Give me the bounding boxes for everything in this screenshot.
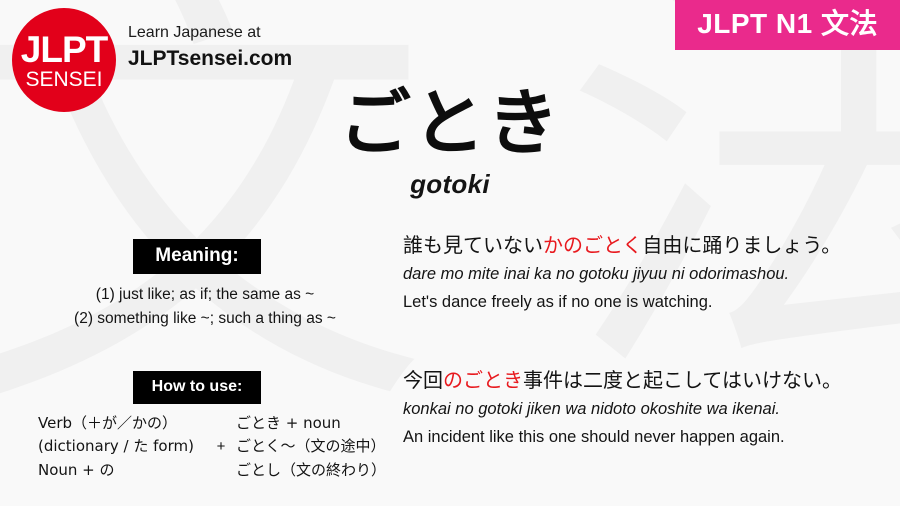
meaning-heading: Meaning: <box>133 239 261 274</box>
how-to-use-plus <box>206 412 236 435</box>
how-to-use-right: ごとき + noun <box>236 412 386 435</box>
grammar-point-romaji: gotoki <box>0 169 900 200</box>
table-row: Verb（＋が／かの） ごとき + noun <box>38 412 386 435</box>
example-japanese: 誰も見ていないかのごとく自由に踊りましょう。 <box>403 232 883 259</box>
grammar-title-block: ごとき gotoki <box>0 82 900 200</box>
jlpt-level-badge: JLPT N1 文法 <box>675 0 900 50</box>
header-text-block: Learn Japanese at JLPTsensei.com <box>128 22 428 73</box>
how-to-use-right: ごとく～（文の途中） <box>236 435 386 458</box>
meaning-list: (1) just like; as if; the same as ~ (2) … <box>30 283 380 331</box>
example-jp-highlight: かのごとく <box>543 233 642 257</box>
how-to-use-right: ごとし（文の終わり） <box>236 459 386 482</box>
example-jp-post: 事件は二度と起こしてはいけない。 <box>523 368 842 392</box>
how-to-use-left: (dictionary / た form) <box>38 435 206 458</box>
example-english: Let's dance freely as if no one is watch… <box>403 290 883 315</box>
example-romaji: dare mo mite inai ka no gotoku jiyuu ni … <box>403 262 883 287</box>
how-to-use-plus: + <box>206 435 236 458</box>
site-name-text[interactable]: JLPTsensei.com <box>128 45 428 73</box>
how-to-use-table: Verb（＋が／かの） ごとき + noun (dictionary / た f… <box>38 412 386 482</box>
example-sentence-2: 今回のごとき事件は二度と起こしてはいけない。 konkai no gotoki … <box>403 367 883 450</box>
example-jp-pre: 誰も見ていない <box>403 233 543 257</box>
meaning-item: (1) just like; as if; the same as ~ <box>30 283 380 307</box>
table-row: Noun + の ごとし（文の終わり） <box>38 459 386 482</box>
table-row: (dictionary / た form) + ごとく～（文の途中） <box>38 435 386 458</box>
grammar-point-kana: ごとき <box>0 82 900 165</box>
example-romaji: konkai no gotoki jiken wa nidoto okoshit… <box>403 397 883 422</box>
example-sentence-1: 誰も見ていないかのごとく自由に踊りましょう。 dare mo mite inai… <box>403 232 883 315</box>
how-to-use-left: Verb（＋が／かの） <box>38 412 206 435</box>
example-english: An incident like this one should never h… <box>403 425 883 450</box>
meaning-item: (2) something like ~; such a thing as ~ <box>30 307 380 331</box>
example-jp-pre: 今回 <box>403 368 443 392</box>
grammar-flashcard: 文 法 JLPT SENSEI Learn Japanese at JLPTse… <box>0 0 900 506</box>
how-to-use-heading: How to use: <box>133 371 261 404</box>
example-japanese: 今回のごとき事件は二度と起こしてはいけない。 <box>403 367 883 394</box>
how-to-use-left: Noun + の <box>38 459 206 482</box>
example-jp-highlight: のごとき <box>443 368 523 392</box>
tagline-text: Learn Japanese at <box>128 22 428 44</box>
how-to-use-plus <box>206 459 236 482</box>
example-jp-post: 自由に踊りましょう。 <box>642 233 841 257</box>
logo-jlpt-text: JLPT <box>21 32 107 67</box>
